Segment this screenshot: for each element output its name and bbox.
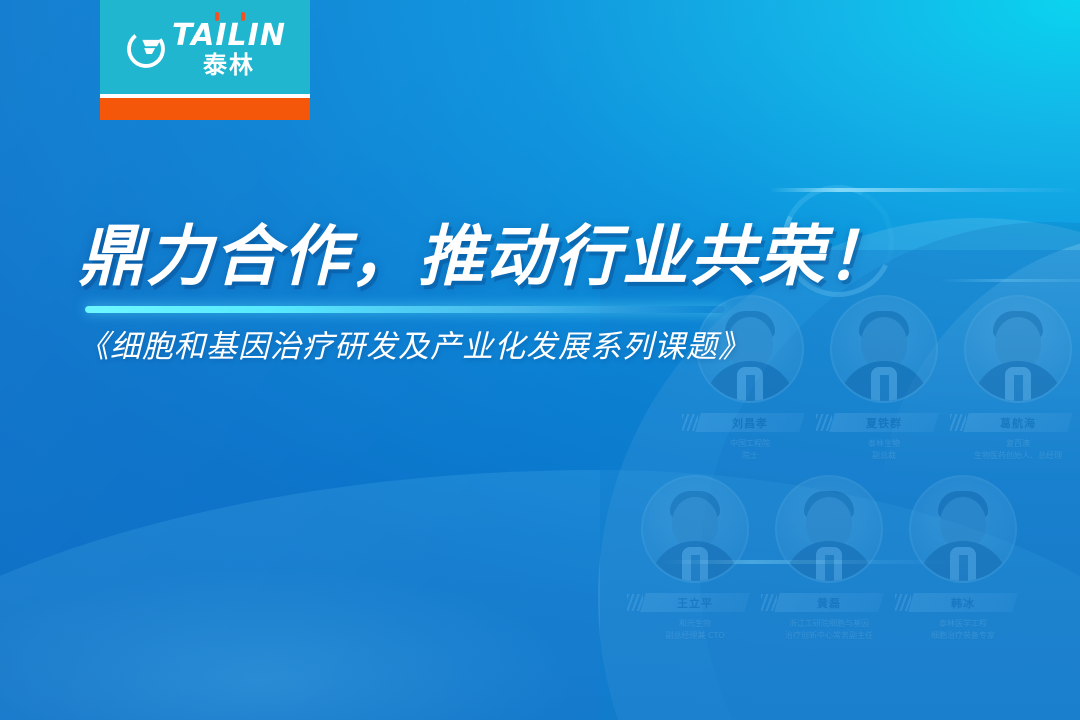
poster-canvas: 刘昌孝 中国工程院 院士 夏铁群 泰林生物	[0, 0, 1080, 720]
decorative-line-top	[770, 188, 1080, 192]
speaker-card: 王立平 和元生物 副总经理兼 CTO	[640, 475, 750, 641]
speaker-org: 中国工程院 院士	[730, 438, 770, 461]
logo-dot-icon	[241, 12, 245, 21]
speaker-card: 韩冰 泰林医学工程 细胞治疗装备专家	[908, 475, 1018, 641]
speaker-name-plate: 刘昌孝	[698, 413, 802, 432]
logo-accent-bar	[100, 98, 310, 120]
brand-logo: TAILIN 泰林	[100, 0, 310, 120]
speaker-name: 夏铁群	[866, 415, 902, 431]
speaker-name: 王立平	[677, 595, 713, 611]
speaker-card: 葛航海 复百澳 生物医药创始人、总经理	[963, 295, 1073, 461]
avatar	[964, 295, 1072, 403]
speaker-org: 浙江工研院细胞与基因 治疗创新中心常务副主任	[785, 618, 873, 641]
speaker-org: 泰林医学工程 细胞治疗装备专家	[931, 618, 995, 641]
speaker-row-2: 王立平 和元生物 副总经理兼 CTO 黄磊 浙江工研院细胞	[640, 475, 1018, 641]
speaker-card: 黄磊 浙江工研院细胞与基因 治疗创新中心常务副主任	[774, 475, 884, 641]
speaker-name: 韩冰	[951, 595, 975, 611]
speaker-org: 泰林生物 副总裁	[868, 438, 900, 461]
avatar	[641, 475, 749, 583]
speaker-name: 黄磊	[817, 595, 841, 611]
speaker-name-plate: 葛航海	[966, 413, 1070, 432]
speaker-name-plate: 王立平	[643, 593, 747, 612]
title-accent-rule	[85, 306, 725, 313]
speaker-name-plate: 黄磊	[777, 593, 881, 612]
speaker-org: 和元生物 副总经理兼 CTO	[665, 618, 724, 641]
logo-chinese-text: 泰林	[203, 53, 255, 77]
logo-dot-icon	[215, 12, 219, 21]
speaker-name: 刘昌孝	[732, 415, 768, 431]
page-title: 鼎力合作，推动行业共荣！	[78, 222, 898, 291]
tailin-circle-mark-icon	[124, 27, 168, 71]
logo-latin-text: TAILIN	[172, 21, 286, 51]
headline-block: 鼎力合作，推动行业共荣！ 《细胞和基因治疗研发及产业化发展系列课题》	[78, 222, 898, 366]
avatar	[775, 475, 883, 583]
page-subtitle: 《细胞和基因治疗研发及产业化发展系列课题》	[78, 321, 898, 366]
speaker-org: 复百澳 生物医药创始人、总经理	[974, 438, 1062, 461]
speaker-name-plate: 韩冰	[911, 593, 1015, 612]
avatar	[909, 475, 1017, 583]
decorative-line-right	[940, 279, 1080, 282]
speaker-name-plate: 夏铁群	[832, 413, 936, 432]
speaker-name: 葛航海	[1000, 415, 1036, 431]
